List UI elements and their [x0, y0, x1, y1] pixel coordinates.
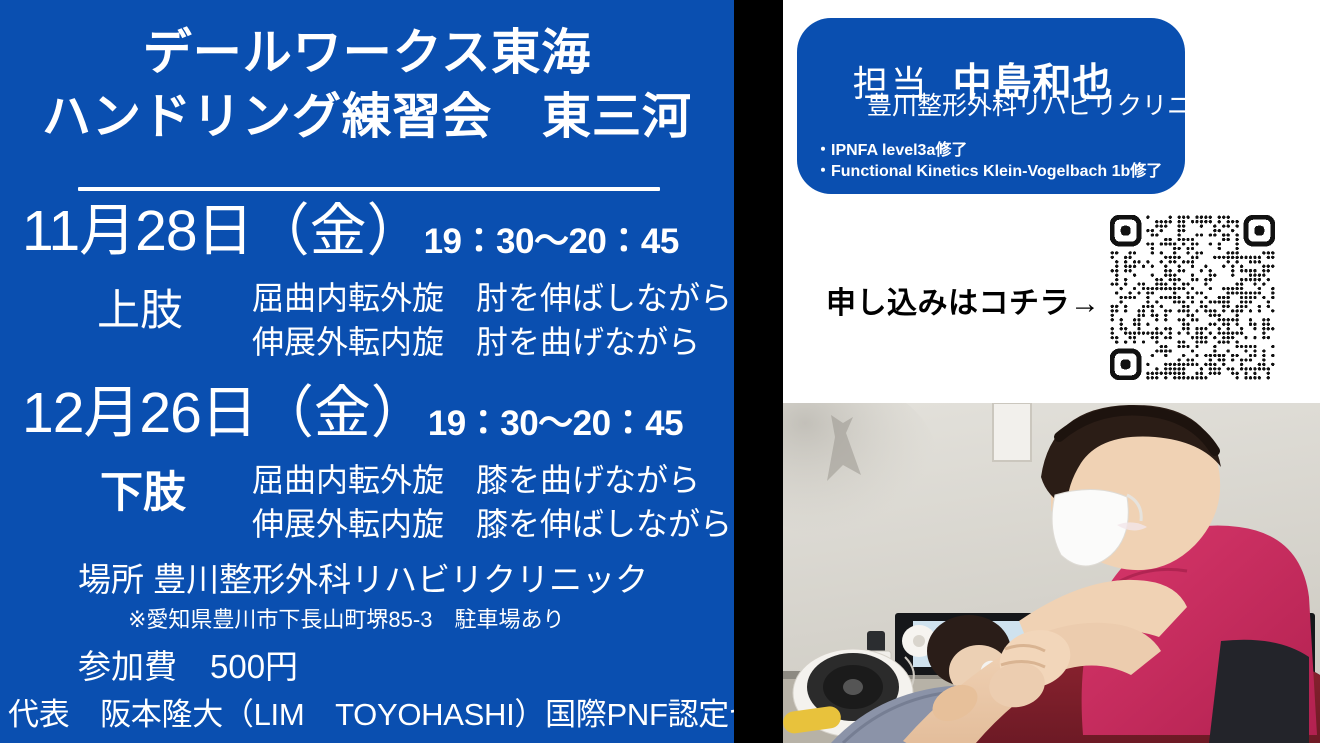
session-block-2: 12月26日（金）19：30～20：45 下肢 屈曲内転外旋 膝を曲げながら 伸… — [0, 382, 734, 552]
flyer-canvas: デールワークス東海 ハンドリング練習会 東三河 11月28日（金）19：30～2… — [0, 0, 1320, 743]
title-line-2: ハンドリング練習会 東三河 — [0, 86, 734, 150]
instructor-credentials: ・IPNFA level3a修了 ・Functional Kinetics Kl… — [815, 140, 1162, 182]
session-1-detail: 上肢 屈曲内転外旋 肘を伸ばしながら 伸展外転内旋 肘を曲げながら — [0, 268, 734, 370]
session-photo — [783, 403, 1320, 743]
left-blue-panel: デールワークス東海 ハンドリング練習会 東三河 11月28日（金）19：30～2… — [0, 0, 734, 743]
instructor-clinic: 豊川整形外科リハビリクリニック — [867, 86, 1185, 122]
qr-cta-text: 申し込みはコチラ→ — [826, 278, 1101, 322]
right-white-panel: 担当 中島和也 豊川整形外科リハビリクリニック ・IPNFA level3a修了… — [783, 0, 1320, 743]
session-2-limb-label: 下肢 — [100, 472, 186, 515]
venue-block: 場所 豊川整形外科リハビリクリニック ※愛知県豊川市下長山町堺85-3 駐車場あ… — [0, 558, 734, 692]
fee-line: 参加費 500円 — [0, 642, 734, 692]
session-1-date: 11月28日 — [22, 199, 253, 263]
session-1-time: 19：30～20：45 — [424, 222, 679, 261]
address-line: ※愛知県豊川市下長山町堺85-3 駐車場あり — [0, 602, 734, 638]
session-1-moves: 屈曲内転外旋 肘を伸ばしながら 伸展外転内旋 肘を曲げながら — [252, 276, 732, 364]
session-2-date: 12月26日 — [22, 381, 257, 445]
session-2-time: 19：30～20：45 — [428, 404, 683, 443]
title-block: デールワークス東海 ハンドリング練習会 東三河 — [0, 22, 734, 149]
session-2-move-2: 伸展外転内旋 膝を伸ばしながら — [252, 502, 732, 546]
representative-line: 代表 阪本隆大（LIM TOYOHASHI）国際PNF認定セラピスト — [8, 695, 734, 735]
session-2-detail: 下肢 屈曲内転外旋 膝を曲げながら 伸展外転内旋 膝を伸ばしながら — [0, 450, 734, 552]
session-1-move-2: 伸展外転内旋 肘を曲げながら — [252, 320, 732, 364]
session-2-move-1: 屈曲内転外旋 膝を曲げながら — [252, 458, 732, 502]
session-1-weekday: （金） — [253, 199, 424, 263]
session-1-limb-label: 上肢 — [97, 290, 183, 333]
session-1-date-line: 11月28日（金）19：30～20：45 — [0, 200, 734, 262]
title-divider — [78, 187, 660, 191]
title-line-1: デールワークス東海 — [0, 22, 734, 86]
credential-item-1: ・IPNFA level3a修了 — [815, 140, 1162, 161]
session-2-moves: 屈曲内転外旋 膝を曲げながら 伸展外転内旋 膝を伸ばしながら — [252, 458, 732, 546]
session-2-weekday: （金） — [257, 381, 428, 445]
session-2-date-line: 12月26日（金）19：30～20：45 — [0, 382, 734, 444]
credential-item-2: ・Functional Kinetics Klein-Vogelbach 1b修… — [815, 161, 1162, 182]
session-block-1: 11月28日（金）19：30～20：45 上肢 屈曲内転外旋 肘を伸ばしながら … — [0, 200, 734, 370]
qr-code-icon[interactable] — [1110, 215, 1275, 380]
venue-line: 場所 豊川整形外科リハビリクリニック — [0, 558, 734, 602]
instructor-card: 担当 中島和也 豊川整形外科リハビリクリニック ・IPNFA level3a修了… — [797, 18, 1185, 194]
session-1-move-1: 屈曲内転外旋 肘を伸ばしながら — [252, 276, 732, 320]
